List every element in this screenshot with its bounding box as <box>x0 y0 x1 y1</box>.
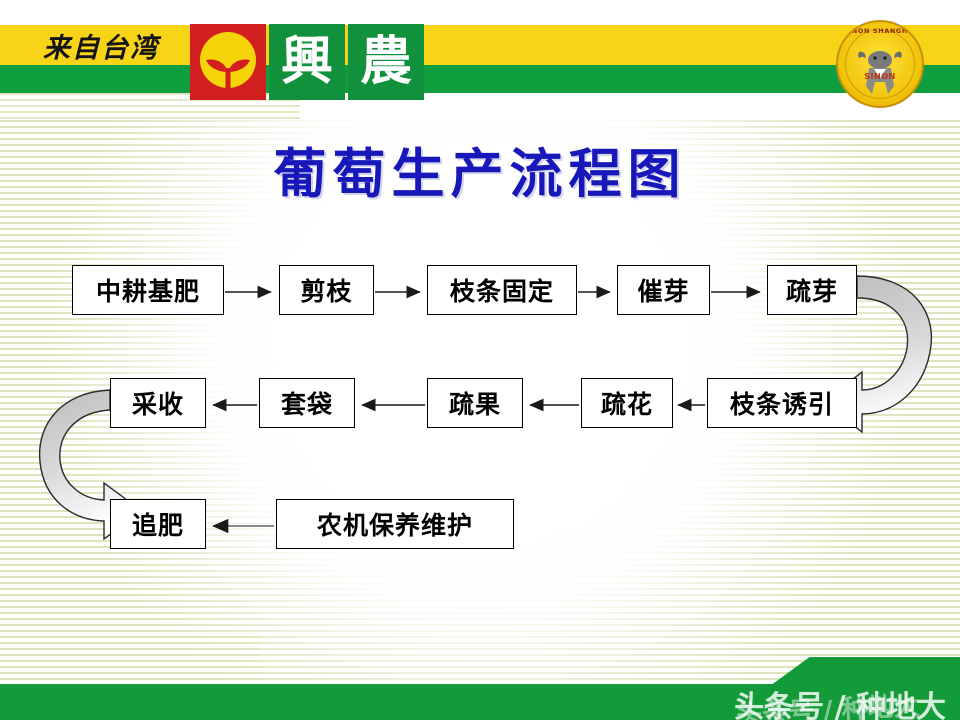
footer-left-stripes <box>0 636 260 686</box>
flow-node-cuiya[interactable]: 催芽 <box>617 265 710 315</box>
flow-node-zhonggengjifei[interactable]: 中耕基肥 <box>72 265 224 315</box>
flow-node-zhuifei[interactable]: 追肥 <box>110 499 206 549</box>
flow-node-shuya[interactable]: 疏芽 <box>767 265 857 315</box>
flowchart: 中耕基肥 剪枝 枝条固定 催芽 疏芽 枝条诱引 疏花 疏果 套袋 采收 农机保养… <box>0 0 960 720</box>
flow-node-zhitiaoguding[interactable]: 枝条固定 <box>427 265 577 315</box>
slide-canvas: 来自台湾 興 農 SINON SHANGHAI <box>0 0 960 720</box>
flow-node-caishou[interactable]: 采收 <box>110 378 206 428</box>
watermark-primary: 头条号 / 种地大 <box>734 682 946 720</box>
flow-node-shuhua[interactable]: 疏花 <box>581 378 673 428</box>
flow-connectors <box>0 0 960 720</box>
flow-node-shuguo[interactable]: 疏果 <box>427 378 523 428</box>
flow-node-zhitiaoyouyin[interactable]: 枝条诱引 <box>707 378 857 428</box>
flow-node-taodai[interactable]: 套袋 <box>259 378 355 428</box>
flow-node-nongjibaoyangweihu[interactable]: 农机保养维护 <box>276 499 514 549</box>
footer-banner: 头条号 / 种地大 头条号 / 种地大 <box>0 636 960 720</box>
flow-node-jianzhi[interactable]: 剪枝 <box>279 265 374 315</box>
